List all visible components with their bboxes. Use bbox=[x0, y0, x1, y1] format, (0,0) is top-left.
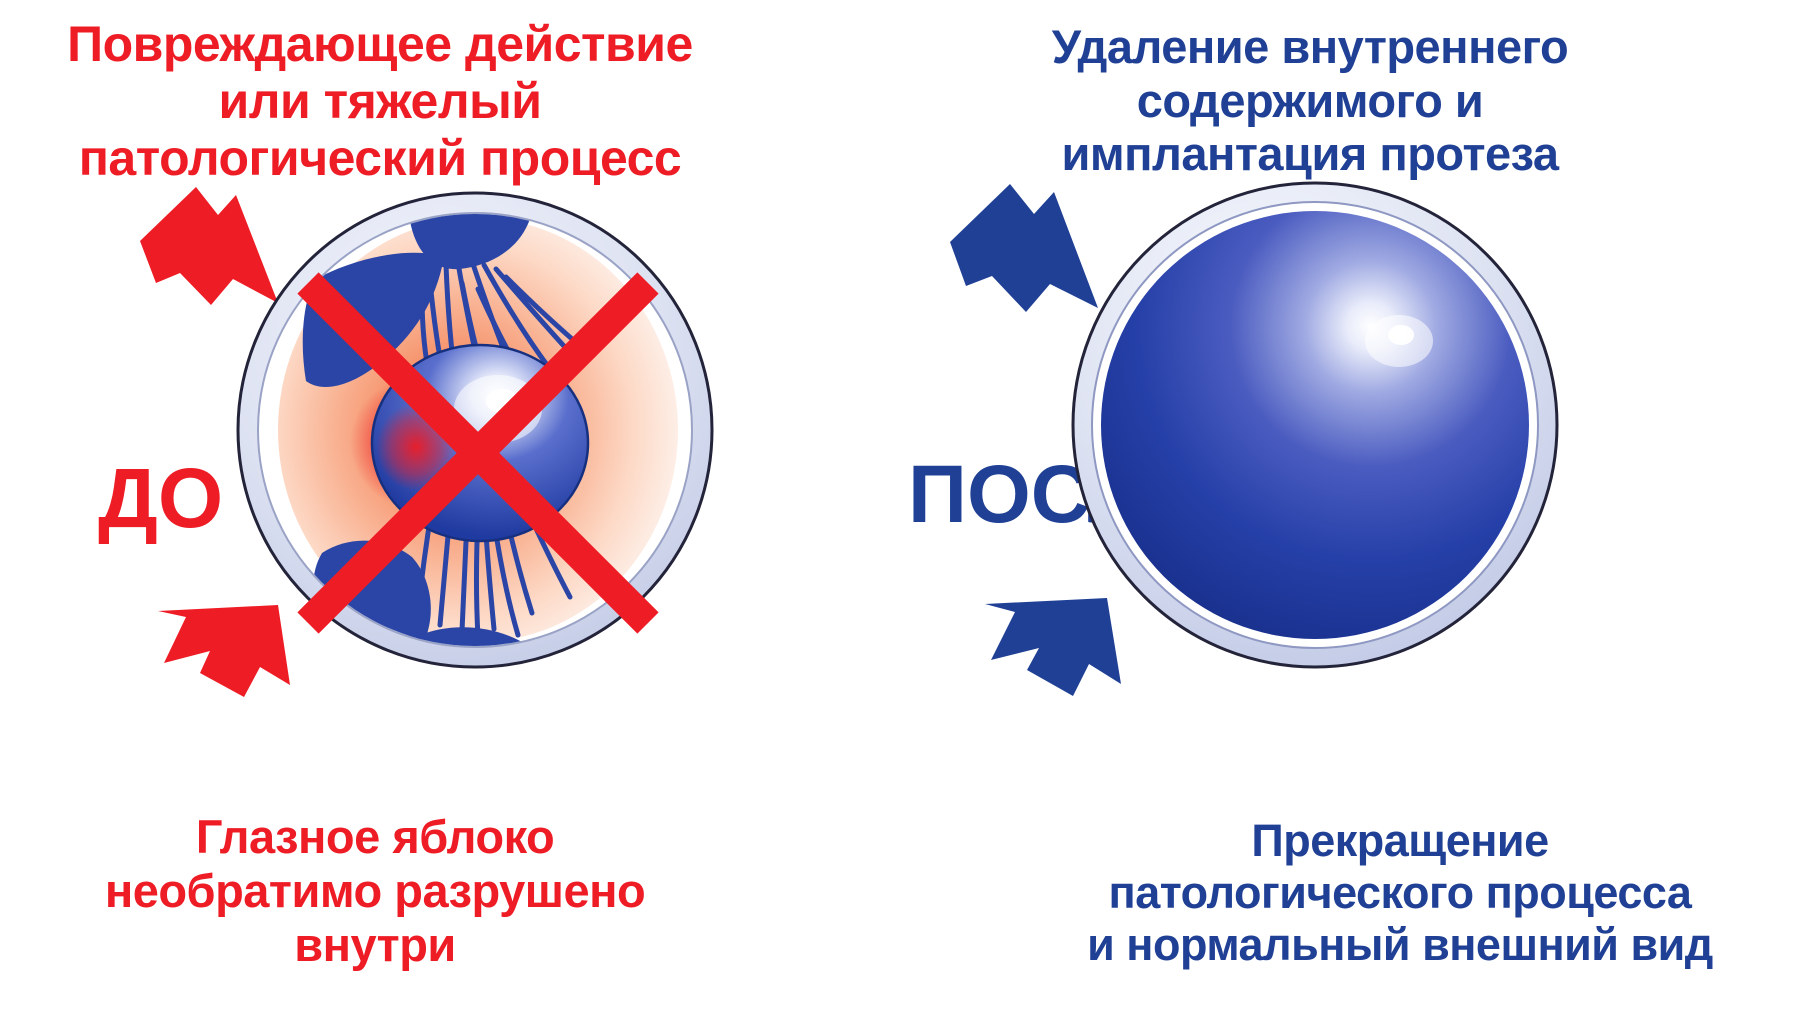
damaged-eyeball-diagram bbox=[230, 185, 720, 675]
infographic-canvas: Повреждающее действие или тяжелый патоло… bbox=[0, 0, 1800, 1012]
heading-before: Повреждающее действие или тяжелый патоло… bbox=[0, 16, 760, 187]
caption-before: Глазное яблоко необратимо разрушено внут… bbox=[0, 810, 755, 972]
specular-highlight bbox=[1365, 315, 1433, 367]
implant-sphere bbox=[1101, 211, 1529, 639]
heading-after: Удаление внутреннего содержимого и импла… bbox=[930, 20, 1690, 181]
stage-label-before: ДО bbox=[98, 450, 223, 547]
caption-after: Прекращение патологического процесса и н… bbox=[1000, 815, 1800, 970]
prosthesis-eyeball-diagram bbox=[1065, 175, 1565, 675]
